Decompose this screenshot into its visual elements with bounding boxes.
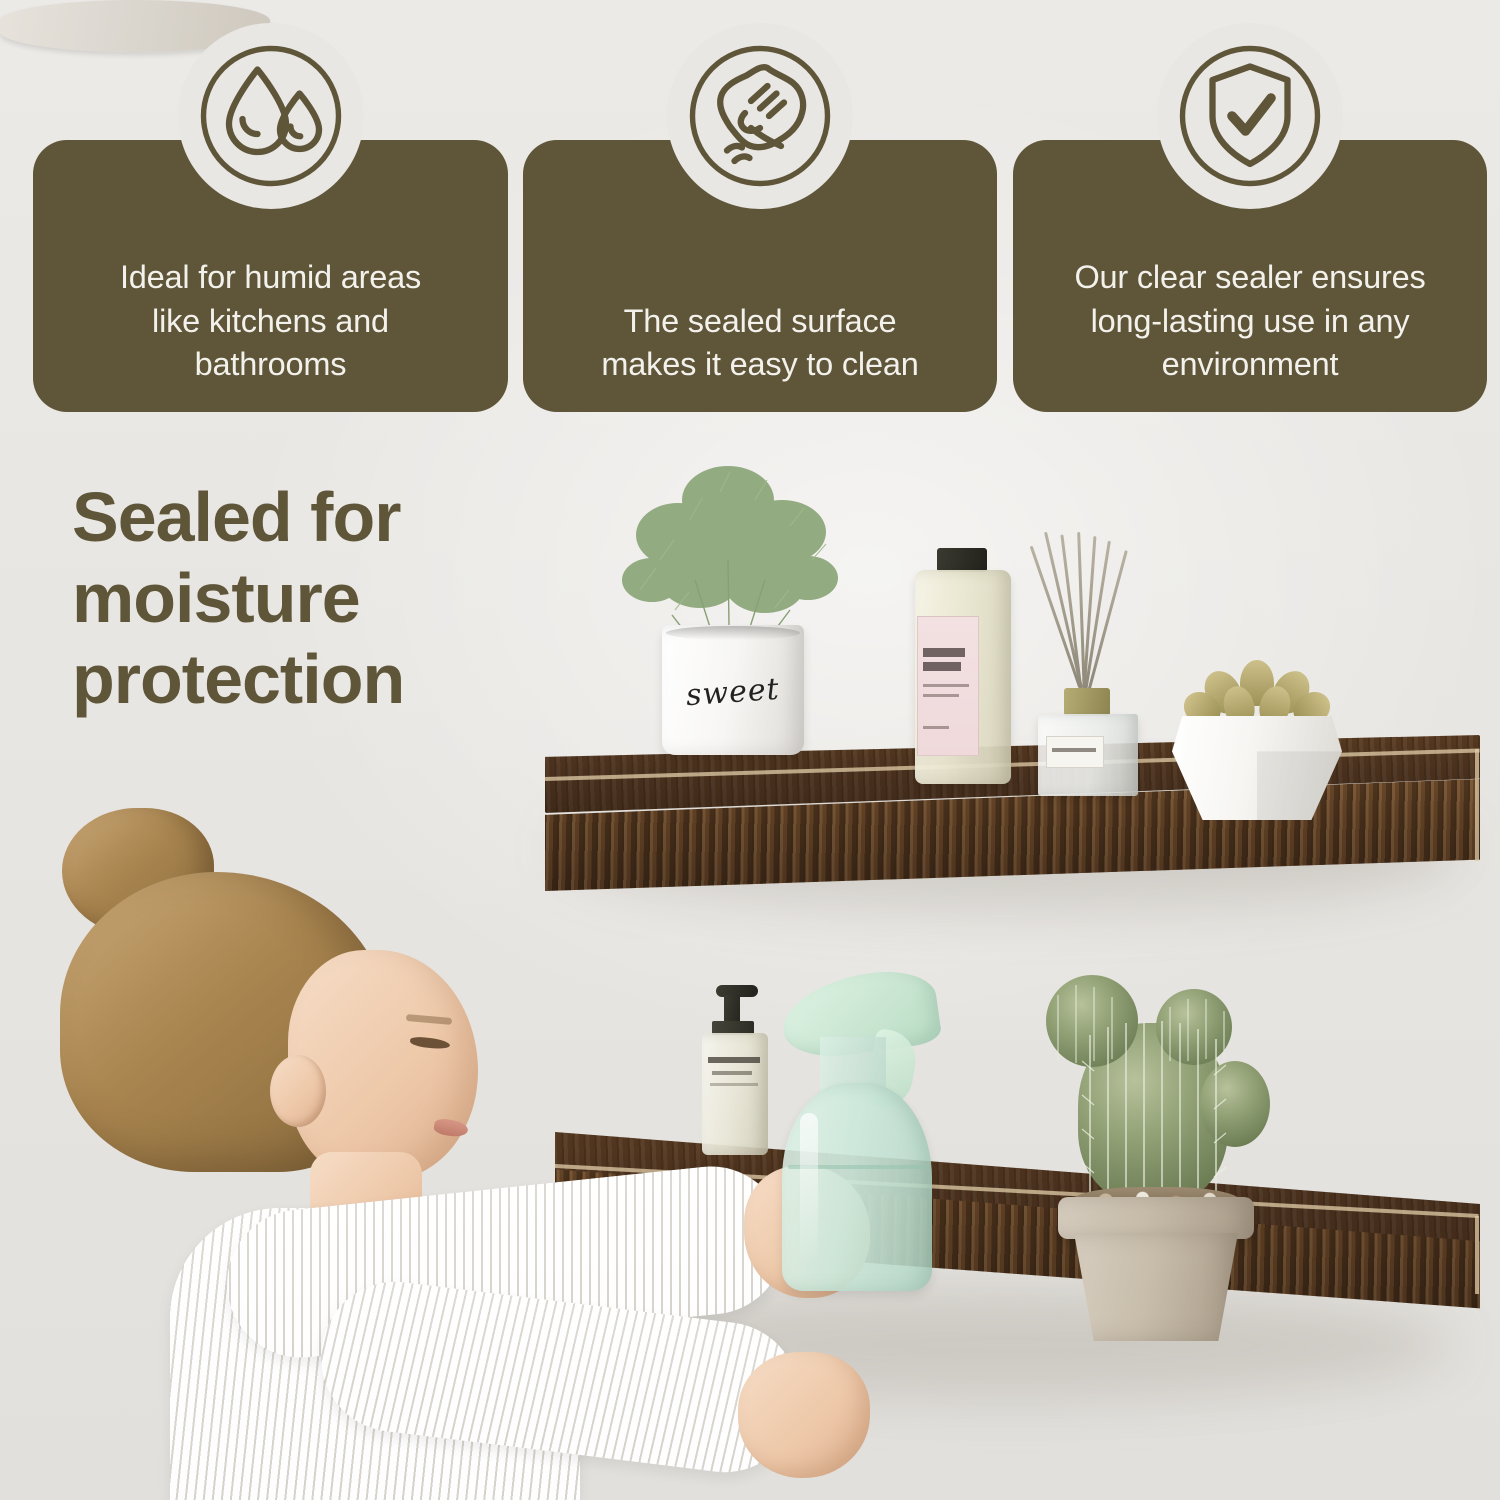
feature-card-easy-to-clean[interactable]: The sealed surface makes it easy to clea…: [523, 140, 997, 412]
label-line-sub1: [923, 684, 969, 687]
cactus-spines: [1030, 965, 1280, 1215]
lower-shelf-right-edge-band: [1475, 1216, 1479, 1294]
lower-hand: [738, 1352, 870, 1478]
reed-diffuser: [1020, 530, 1145, 795]
water-droplets-icon: [178, 23, 364, 209]
label-line-rose: [923, 648, 965, 657]
label-line-vier: [923, 662, 961, 671]
label-line-sub2: [923, 694, 959, 697]
feature-card-long-lasting[interactable]: Our clear sealer ensures long-lasting us…: [1013, 140, 1487, 412]
spray-bottle-highlight: [800, 1113, 818, 1263]
pot-script-label: sweet: [685, 672, 781, 713]
feature-card-text: Ideal for humid areas like kitchens and …: [104, 256, 437, 386]
feature-cards: Ideal for humid areas like kitchens and …: [0, 0, 1500, 420]
hand-wiping-cloth-icon: [667, 23, 853, 209]
rose-oil-bottle: [905, 548, 1017, 786]
terracotta-pot-body: [1074, 1233, 1238, 1341]
terracotta-pot-rim: [1058, 1197, 1254, 1239]
diffuser-label-text: [1052, 748, 1096, 752]
feature-card-text: The sealed surface makes it easy to clea…: [585, 300, 934, 386]
page-headline: Sealed for moisture protection: [72, 477, 542, 721]
spray-bottle: [770, 975, 940, 1305]
young-girl: [20, 800, 880, 1500]
feature-card-humid-areas[interactable]: Ideal for humid areas like kitchens and …: [33, 140, 508, 412]
bottle-cap: [937, 548, 987, 572]
barrel-cactus: [1030, 965, 1280, 1295]
ear: [270, 1055, 326, 1127]
geometric-planter-succulent: [1172, 660, 1342, 820]
label-line-sub3: [923, 726, 949, 729]
product-marketing-image: sweet: [0, 0, 1500, 1500]
potted-fern-plant: sweet: [600, 440, 860, 780]
diffuser-collar: [1064, 688, 1110, 716]
upper-shelf-right-edge-band: [1475, 749, 1479, 861]
pot-rim-shadow: [666, 626, 800, 640]
shield-check-icon: [1157, 23, 1343, 209]
diffuser-label: [1046, 736, 1104, 768]
feature-card-text: Our clear sealer ensures long-lasting us…: [1058, 256, 1441, 386]
